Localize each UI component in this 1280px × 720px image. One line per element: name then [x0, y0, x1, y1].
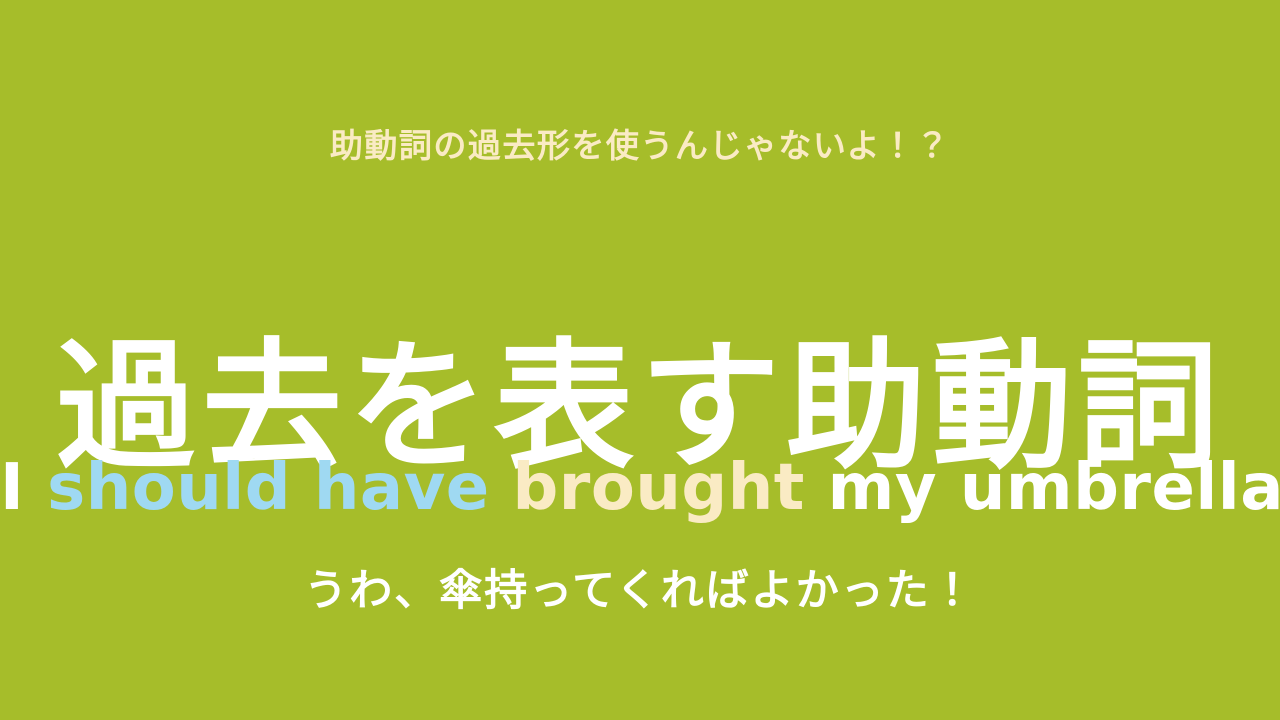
- sentence-segment-modal: should have: [47, 451, 490, 525]
- sentence-space-2: [490, 451, 513, 525]
- lesson-title-slide: 助動詞の過去形を使うんじゃないよ！？ 過去を表す助動詞 I should hav…: [0, 0, 1280, 720]
- sentence-space-1: [24, 451, 47, 525]
- sentence-segment-verb: brought: [512, 451, 804, 525]
- sentence-space-3: [805, 451, 828, 525]
- sentence-segment-object: my umbrella!: [828, 451, 1280, 525]
- kicker-subtitle: 助動詞の過去形を使うんじゃないよ！？: [0, 128, 1280, 164]
- sentence-segment-subject: I: [0, 451, 24, 525]
- translation-text: うわ、傘持ってくればよかった！: [0, 566, 1280, 618]
- example-sentence: I should have brought my umbrella!: [0, 452, 1280, 526]
